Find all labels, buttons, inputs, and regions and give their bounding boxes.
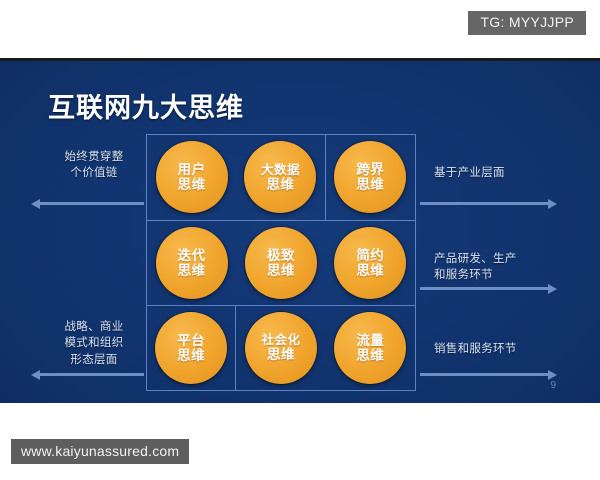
annotation-left-1-line2: 个价值链 bbox=[46, 165, 142, 181]
bubble-line2: 思维 bbox=[178, 263, 206, 278]
arrow-right-middle-icon bbox=[420, 287, 548, 290]
bubble-line1: 流量 bbox=[356, 333, 384, 348]
nine-thinking-grid: 用户 思维 大数据 思维 跨界 思维 bbox=[146, 134, 416, 391]
bubble-line1: 跨界 bbox=[356, 162, 384, 177]
presentation-slide: 互联网九大思维 始终贯穿整 个价值链 战略、商业 模式和组织 形态层面 基于产业… bbox=[0, 58, 600, 403]
bubble-line2: 思维 bbox=[267, 263, 295, 278]
bubble-line1: 迭代 bbox=[178, 248, 206, 263]
annotation-left-2-line1: 战略、商业 bbox=[46, 319, 142, 335]
bubble-line1: 用户 bbox=[178, 162, 206, 177]
watermark-top-badge: TG: MYYJJPP bbox=[468, 11, 586, 35]
bubble-line2: 思维 bbox=[267, 347, 295, 362]
bubble-platform-thinking[interactable]: 平台 思维 bbox=[155, 312, 227, 384]
bubble-iteration-thinking[interactable]: 迭代 思维 bbox=[156, 227, 228, 299]
annotation-right-sales-service: 销售和服务环节 bbox=[434, 341, 580, 357]
bubble-social-thinking[interactable]: 社会化 思维 bbox=[245, 312, 317, 384]
grid-row: 迭代 思维 极致 思维 简约 思维 bbox=[146, 220, 416, 306]
annotation-left-2-line2: 模式和组织 bbox=[46, 335, 142, 351]
watermark-bottom-url: www.kaiyunassured.com bbox=[11, 439, 189, 464]
annotation-right-2-line1: 产品研发、生产 bbox=[434, 251, 580, 267]
bubble-line1: 简约 bbox=[356, 248, 384, 263]
annotation-right-3-line1: 销售和服务环节 bbox=[434, 341, 580, 357]
annotation-left-strategy-layer: 战略、商业 模式和组织 形态层面 bbox=[46, 319, 142, 368]
bubble-user-thinking[interactable]: 用户 思维 bbox=[156, 141, 228, 213]
grid-cell-user-thinking[interactable]: 用户 思维 bbox=[147, 135, 236, 220]
annotation-right-rnd-production: 产品研发、生产 和服务环节 bbox=[434, 251, 580, 284]
bubble-line2: 思维 bbox=[266, 177, 294, 192]
bubble-line1: 极致 bbox=[267, 248, 295, 263]
screenshot-root: TG: MYYJJPP 互联网九大思维 始终贯穿整 个价值链 战略、商业 模式和… bbox=[0, 0, 600, 480]
slide-page-number: 9 bbox=[550, 380, 556, 391]
grid-cell-platform-thinking[interactable]: 平台 思维 bbox=[147, 306, 236, 390]
grid-cell-extreme-thinking[interactable]: 极致 思维 bbox=[236, 221, 325, 306]
bubble-line2: 思维 bbox=[356, 263, 384, 278]
grid-row: 用户 思维 大数据 思维 跨界 思维 bbox=[146, 134, 416, 220]
annotation-left-1-line1: 始终贯穿整 bbox=[46, 149, 142, 165]
bubble-line2: 思维 bbox=[356, 348, 384, 363]
annotation-right-2-line2: 和服务环节 bbox=[434, 267, 580, 283]
bubble-simplicity-thinking[interactable]: 简约 思维 bbox=[334, 227, 406, 299]
grid-cell-simplicity-thinking[interactable]: 简约 思维 bbox=[326, 221, 415, 306]
bubble-line1: 社会化 bbox=[261, 333, 300, 347]
bubble-line2: 思维 bbox=[177, 348, 205, 363]
grid-row: 平台 思维 社会化 思维 流量 思维 bbox=[146, 305, 416, 391]
grid-cell-bigdata-thinking[interactable]: 大数据 思维 bbox=[236, 135, 325, 220]
bubble-extreme-thinking[interactable]: 极致 思维 bbox=[245, 227, 317, 299]
slide-title: 互联网九大思维 bbox=[48, 86, 244, 125]
bubble-crossborder-thinking[interactable]: 跨界 思维 bbox=[334, 141, 406, 213]
bubble-bigdata-thinking[interactable]: 大数据 思维 bbox=[244, 141, 316, 213]
bubble-line2: 思维 bbox=[178, 177, 206, 192]
grid-cell-iteration-thinking[interactable]: 迭代 思维 bbox=[147, 221, 236, 306]
bubble-line1: 平台 bbox=[177, 333, 205, 348]
grid-cell-traffic-thinking[interactable]: 流量 思维 bbox=[326, 306, 415, 390]
bubble-traffic-thinking[interactable]: 流量 思维 bbox=[334, 312, 406, 384]
annotation-left-2-line3: 形态层面 bbox=[46, 352, 142, 368]
annotation-right-industry-layer: 基于产业层面 bbox=[434, 165, 580, 181]
grid-cell-crossborder-thinking[interactable]: 跨界 思维 bbox=[326, 135, 415, 220]
bubble-line2: 思维 bbox=[356, 177, 384, 192]
annotation-right-1-line1: 基于产业层面 bbox=[434, 165, 580, 181]
bubble-line1: 大数据 bbox=[261, 163, 300, 177]
annotation-left-value-chain: 始终贯穿整 个价值链 bbox=[46, 149, 142, 182]
arrow-left-bottom-icon bbox=[40, 373, 144, 376]
grid-cell-social-thinking[interactable]: 社会化 思维 bbox=[236, 306, 325, 390]
arrow-right-bottom-icon bbox=[420, 373, 548, 376]
arrow-right-top-icon bbox=[420, 202, 548, 205]
arrow-left-top-icon bbox=[40, 202, 144, 205]
